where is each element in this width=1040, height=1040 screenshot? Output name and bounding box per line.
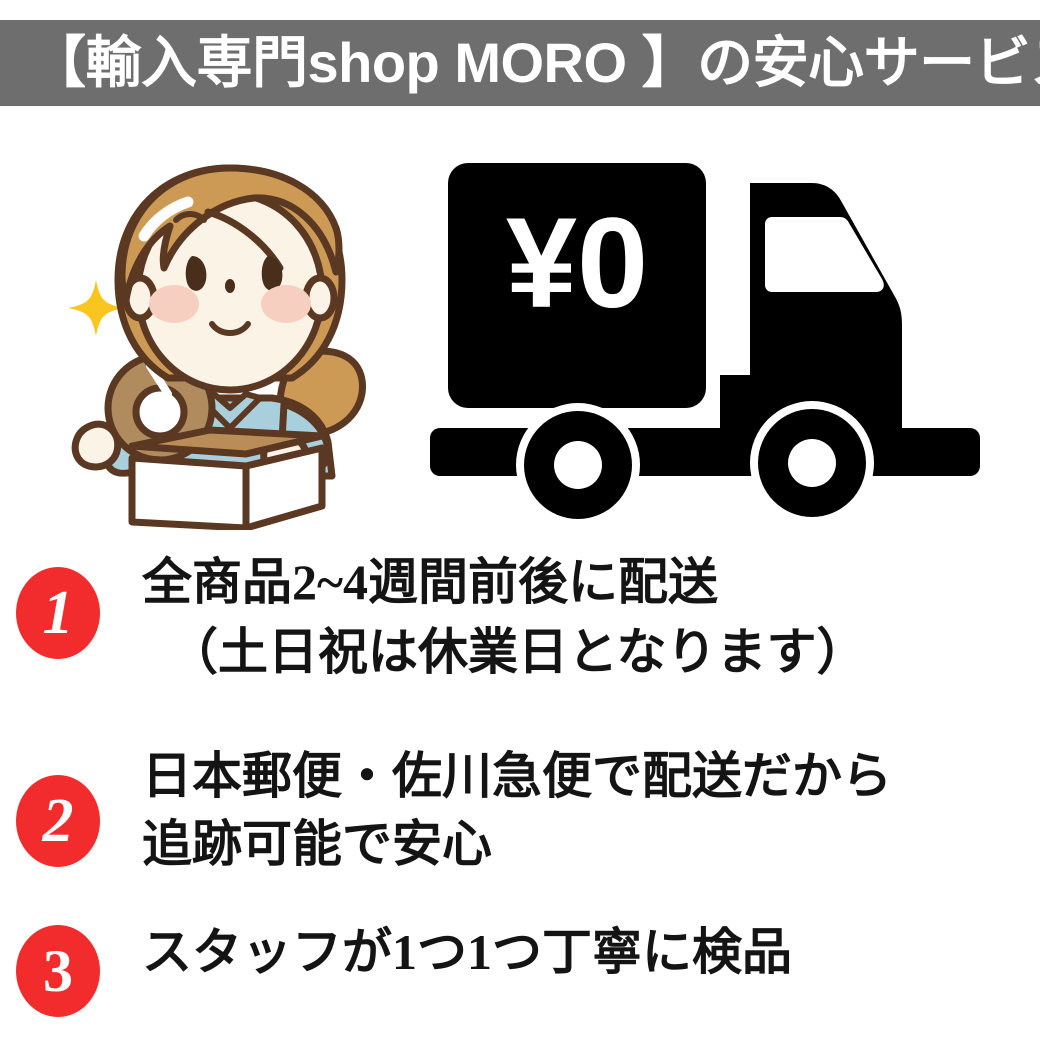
package-box-front bbox=[132, 458, 246, 528]
list-item-label: スタッフが1つ1つ丁寧に検品 bbox=[142, 923, 792, 982]
status-badge: 3 bbox=[16, 925, 100, 1017]
service-list: 1 全商品2~4週間前後に配送 （土日祝は休業日となります） 2 日本郵便・佐川… bbox=[0, 545, 1040, 1040]
list-item-sublabel: （土日祝は休業日となります） bbox=[168, 623, 867, 682]
status-badge: 1 bbox=[16, 567, 100, 659]
staff-illustration-svg bbox=[40, 140, 420, 530]
staff-illustration bbox=[40, 140, 420, 530]
shipping-service-infographic: 【輸入専門shop MORO 】の安心サービス bbox=[0, 0, 1040, 1040]
truck-front-wheel-hub bbox=[788, 439, 836, 487]
list-item-sublabel: 追跡可能で安心 bbox=[142, 815, 492, 874]
magnifier-inner bbox=[136, 388, 184, 436]
free-shipping-truck: ¥0 bbox=[420, 145, 1010, 530]
right-ear bbox=[306, 278, 334, 318]
list-item: 3 スタッフが1つ1つ丁寧に検品 bbox=[0, 915, 1040, 1035]
list-item: 1 全商品2~4週間前後に配送 （土日祝は休業日となります） bbox=[0, 545, 1040, 730]
banner-title: 【輸入専門shop MORO 】の安心サービス bbox=[0, 35, 1040, 91]
truck-svg: ¥0 bbox=[420, 145, 1010, 530]
truck-cab-window bbox=[765, 217, 884, 292]
truck-cab-lower bbox=[720, 375, 750, 445]
right-cheek bbox=[261, 285, 311, 323]
nose bbox=[225, 279, 235, 293]
package-box-side bbox=[246, 448, 322, 528]
list-item: 2 日本郵便・佐川急便で配送だから 追跡可能で安心 bbox=[0, 745, 1040, 905]
truck-cargo-label: ¥0 bbox=[506, 192, 648, 335]
list-item-label: 日本郵便・佐川急便で配送だから bbox=[142, 747, 892, 806]
list-item-label: 全商品2~4週間前後に配送 bbox=[142, 553, 718, 612]
truck-chassis bbox=[430, 428, 980, 476]
status-badge: 2 bbox=[16, 775, 100, 867]
left-cheek bbox=[149, 285, 199, 323]
truck-rear-wheel-hub bbox=[554, 441, 602, 489]
header-banner: 【輸入専門shop MORO 】の安心サービス bbox=[0, 20, 1040, 106]
